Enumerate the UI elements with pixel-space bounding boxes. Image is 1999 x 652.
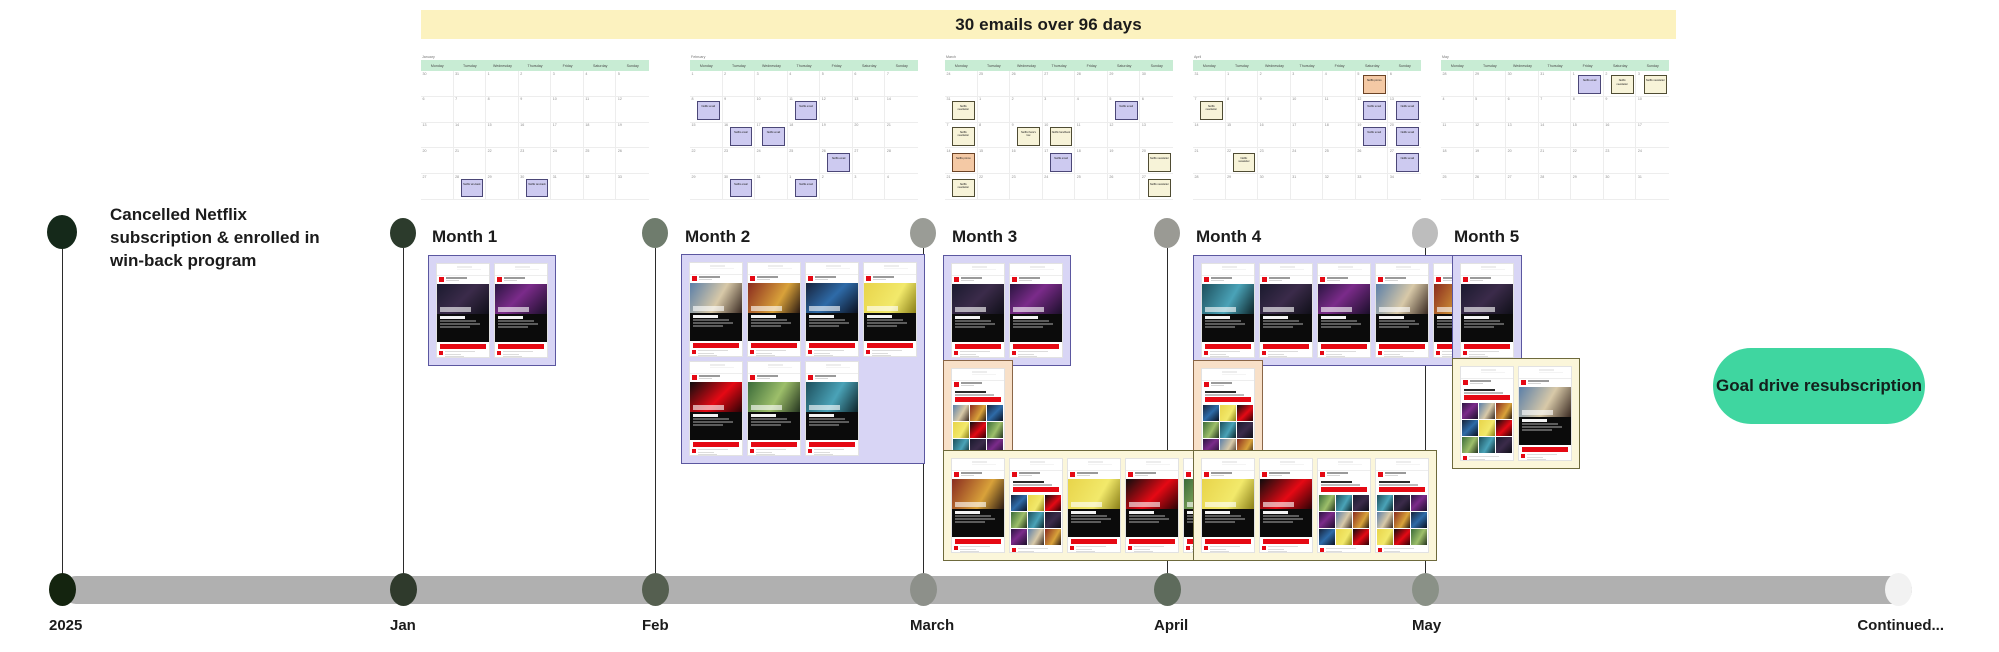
email-cta-button[interactable] [1464, 395, 1510, 400]
netflix-avatar-icon [1320, 277, 1325, 282]
calendar-event-chip[interactable]: Netflix email [1396, 153, 1419, 172]
calendar-day-cell[interactable]: 5Netflix email [1108, 97, 1141, 123]
calendar-event-chip[interactable]: Netflix newsletter [952, 127, 975, 146]
calendar-day-cell[interactable]: 34 [1388, 174, 1421, 200]
calendar-day-cell[interactable]: 4 [1075, 97, 1108, 123]
calendar-day-cell[interactable]: 1 [978, 97, 1011, 123]
calendar-day-cell[interactable]: 28 [1539, 174, 1572, 200]
calendar-day-cell[interactable]: 1 [486, 71, 519, 97]
calendar-day-cell[interactable]: 29 [1571, 174, 1604, 200]
calendar-event-chip[interactable]: Netflix email [795, 179, 818, 198]
calendar-day-cell[interactable]: 15 [1571, 123, 1604, 149]
calendar-day-cell[interactable]: 27 [421, 174, 454, 200]
email-screenshot[interactable] [1009, 263, 1063, 358]
axis-tick-dot[interactable] [49, 573, 76, 606]
email-screenshot[interactable] [1460, 366, 1514, 461]
calendar-day-cell[interactable]: 23 [1010, 174, 1043, 200]
calendar-day-cell[interactable]: 29 [486, 174, 519, 200]
email-screenshot[interactable] [951, 263, 1005, 358]
calendar-day-cell[interactable]: 15 [1226, 123, 1259, 149]
calendar-day-cell[interactable]: 12 [820, 97, 853, 123]
email-screenshot[interactable] [689, 262, 743, 357]
calendar-day-cell[interactable]: 12 [1474, 123, 1507, 149]
milestone-dot[interactable] [390, 218, 416, 248]
calendar-day-cell[interactable]: 23 [519, 148, 552, 174]
email-footer [1068, 544, 1120, 553]
email-title-thumbnail [1237, 405, 1253, 421]
calendar-day-number: 19 [822, 123, 826, 128]
calendar-day-cell[interactable]: 14 [1539, 123, 1572, 149]
email-footer [495, 349, 547, 358]
calendar-day-cell[interactable]: 22Netflix newsletter [1226, 148, 1259, 174]
calendar-day-cell[interactable]: 10 [1291, 97, 1324, 123]
calendar-event-chip[interactable]: Netflix email [795, 101, 818, 120]
email-sender-row [748, 374, 800, 381]
calendar-event-chip[interactable]: Netflix email [1363, 101, 1386, 120]
calendar-day-number: 22 [1227, 149, 1231, 154]
calendar-day-cell[interactable]: 13 [1140, 123, 1173, 149]
calendar-day-cell[interactable]: 30 [1506, 71, 1539, 97]
calendar-day-cell[interactable]: 28 [1441, 71, 1474, 97]
calendar-event-chip[interactable]: Netflix there's low [1017, 127, 1040, 146]
calendar-day-cell[interactable]: 6 [1140, 97, 1173, 123]
calendar-day-cell[interactable]: 33 [616, 174, 649, 200]
calendar-day-cell[interactable]: 2 [723, 71, 756, 97]
axis-tick-dot[interactable] [390, 573, 417, 606]
email-screenshot[interactable] [436, 263, 490, 358]
email-screenshot[interactable] [494, 263, 548, 358]
calendar-day-cell[interactable]: 2 [1010, 97, 1043, 123]
email-screenshot[interactable] [951, 368, 1005, 463]
calendar-day-cell[interactable]: 27 [1043, 71, 1076, 97]
calendar-day-cell[interactable]: 9 [1604, 97, 1637, 123]
calendar-day-cell[interactable]: 6 [853, 71, 886, 97]
calendar-day-cell[interactable]: 21 [454, 148, 487, 174]
email-hero-title-overlay [1205, 307, 1236, 312]
calendar-day-cell[interactable]: 2 [820, 174, 853, 200]
email-screenshot[interactable] [1201, 263, 1255, 358]
email-cta-button[interactable] [1321, 487, 1367, 492]
email-screenshot[interactable] [1201, 368, 1255, 463]
axis-tick-dot[interactable] [1885, 573, 1912, 606]
calendar-day-cell[interactable]: 16 [1010, 148, 1043, 174]
calendar-day-cell[interactable]: 5Netflix promo [1356, 71, 1389, 97]
calendar-day-number: 2 [1012, 97, 1014, 102]
calendar-day-cell[interactable]: 26 [1356, 148, 1389, 174]
email-screenshot[interactable] [805, 262, 859, 357]
calendar-day-cell[interactable]: 28 [1193, 174, 1226, 200]
calendar-day-cell[interactable]: 5 [1474, 97, 1507, 123]
calendar-day-cell[interactable]: 18 [1075, 148, 1108, 174]
email-hero-image [1461, 284, 1513, 315]
calendar-day-cell[interactable]: 27 [853, 148, 886, 174]
email-screenshot[interactable] [805, 361, 859, 456]
calendar-day-cell[interactable]: 3 [853, 174, 886, 200]
calendar-day-cell[interactable]: 25 [1441, 174, 1474, 200]
calendar-day-cell[interactable]: 6 [1388, 71, 1421, 97]
calendar-event-chip[interactable]: Netflix email [1115, 101, 1138, 120]
calendar-day-cell[interactable]: 19 [820, 123, 853, 149]
calendar-day-cell[interactable]: 7 [454, 97, 487, 123]
calendar-day-cell[interactable]: 28Netflix win-back [454, 174, 487, 200]
email-title-thumbnail [1353, 529, 1369, 545]
calendar-day-cell[interactable]: 14 [885, 97, 918, 123]
email-volume-banner: 30 emails over 96 days [421, 10, 1676, 39]
email-screenshot[interactable] [1009, 458, 1063, 553]
calendar-event-chip[interactable]: Netflix handbook [1050, 127, 1073, 146]
calendar-day-number: 12 [822, 97, 826, 102]
calendar-day-cell[interactable]: 3 [551, 71, 584, 97]
calendar-day-cell[interactable]: 21 [1539, 148, 1572, 174]
calendar-day-cell[interactable]: 16 [1604, 123, 1637, 149]
calendar-day-cell[interactable]: 24 [755, 148, 788, 174]
milestone-stem [62, 232, 63, 586]
calendar-event-chip[interactable]: Netflix email [1396, 127, 1419, 146]
calendar-day-cell[interactable]: 13 [421, 123, 454, 149]
email-sender-row [1202, 381, 1254, 388]
email-sender-lines [1019, 472, 1060, 477]
calendar-day-cell[interactable]: 3 [1043, 97, 1076, 123]
calendar-day-number: 3 [1292, 72, 1294, 77]
calendar-day-cell[interactable]: 21 [1193, 148, 1226, 174]
calendar-day-cell[interactable]: 23 [1258, 148, 1291, 174]
calendar-event-chip[interactable]: Netflix newsletter [1644, 75, 1667, 94]
calendar-day-cell[interactable]: 4 [1441, 97, 1474, 123]
calendar-day-cell[interactable]: 31 [755, 174, 788, 200]
calendar-day-cell[interactable]: 10Netflix handbook [1043, 123, 1076, 149]
calendar-day-cell[interactable]: 22 [690, 148, 723, 174]
calendar-day-cell[interactable]: 15 [978, 148, 1011, 174]
email-footer [690, 447, 742, 456]
calendar-day-cell[interactable]: 19 [1108, 148, 1141, 174]
calendar-day-cell[interactable]: 8Netflix email [690, 97, 723, 123]
netflix-avatar-icon [1012, 472, 1017, 477]
netflix-avatar-icon [750, 276, 755, 281]
axis-tick-dot[interactable] [642, 573, 669, 606]
calendar-day-cell[interactable]: 31 [1291, 174, 1324, 200]
calendar-day-cell[interactable]: 30 [1604, 174, 1637, 200]
email-title-thumbnail [1411, 495, 1427, 511]
calendar-day-cell[interactable]: 7Netflix newsletter [1193, 97, 1226, 123]
email-title-thumbnail [1028, 495, 1044, 511]
calendar-day-cell[interactable]: 23 [1604, 148, 1637, 174]
email-client-header [864, 263, 916, 275]
calendar-day-cell[interactable]: 3 [1291, 71, 1324, 97]
calendar-event-chip[interactable]: Netflix win-back [526, 179, 549, 198]
calendar-day-cell[interactable]: 17Netflix email [755, 123, 788, 149]
email-hero-image [1260, 479, 1312, 510]
email-screenshot[interactable] [1518, 366, 1572, 461]
calendar-day-cell[interactable]: 30 [1140, 71, 1173, 97]
calendar-day-cell[interactable]: 15 [690, 123, 723, 149]
calendar-day-cell[interactable]: 10 [551, 97, 584, 123]
email-title-thumbnail [1011, 495, 1027, 511]
calendar-day-cell[interactable]: 14 [1193, 123, 1226, 149]
calendar-day-cell[interactable]: 20 [421, 148, 454, 174]
calendar-day-cell[interactable]: 8 [1226, 97, 1259, 123]
calendar-day-number: 29 [1109, 72, 1113, 77]
milestone-dot[interactable] [1154, 218, 1180, 248]
calendar-event-chip[interactable]: Netflix newsletter [1200, 101, 1223, 120]
calendar-day-cell[interactable]: 16 [1258, 123, 1291, 149]
email-screenshot[interactable] [689, 361, 743, 456]
calendar-weekday: Saturday [584, 60, 617, 71]
calendar-day-cell[interactable]: 2 [519, 71, 552, 97]
calendar-day-cell[interactable]: 26Netflix email [820, 148, 853, 174]
calendar-day-cell[interactable]: 18 [1323, 123, 1356, 149]
calendar-day-number: 21 [1195, 149, 1199, 154]
calendar-day-cell[interactable]: 30 [421, 71, 454, 97]
calendar-event-chip[interactable]: Netflix email [1363, 127, 1386, 146]
calendar-day-cell[interactable]: 25 [788, 148, 821, 174]
calendar-event-chip[interactable]: Netflix email [697, 101, 720, 120]
calendar-day-cell[interactable]: 7 [885, 71, 918, 97]
calendar-day-cell[interactable]: 13 [1506, 123, 1539, 149]
axis-tick-dot[interactable] [910, 573, 937, 606]
calendar-event-chip[interactable]: Netflix email [730, 127, 753, 146]
calendar-day-cell[interactable]: 30Netflix email [723, 174, 756, 200]
calendar-day-cell[interactable]: 32 [1323, 174, 1356, 200]
calendar-day-cell[interactable]: 12Netflix email [1356, 97, 1389, 123]
email-cta-button[interactable] [955, 397, 1001, 402]
calendar-event-chip[interactable]: Netflix email [827, 153, 850, 172]
calendar-day-cell[interactable]: 27Netflix newsletter [1140, 174, 1173, 200]
calendar-day-cell[interactable]: 11 [1075, 123, 1108, 149]
calendar-weekday: Monday [421, 60, 454, 71]
calendar-day-cell[interactable]: 18 [584, 123, 617, 149]
email-screenshot[interactable] [1317, 458, 1371, 553]
calendar-day-cell[interactable]: 13 [853, 97, 886, 123]
email-screenshot[interactable] [747, 361, 801, 456]
calendar-day-cell[interactable]: 11 [584, 97, 617, 123]
calendar-day-cell[interactable]: 6 [1506, 97, 1539, 123]
calendar-event-chip[interactable]: Netflix email [1050, 153, 1073, 172]
calendar-day-cell[interactable]: 20 [1506, 148, 1539, 174]
calendar-day-cell[interactable]: 25 [584, 148, 617, 174]
calendar-day-cell[interactable]: 10 [1636, 97, 1669, 123]
calendar-day-cell[interactable]: 29 [690, 174, 723, 200]
email-hero-image [495, 284, 547, 315]
calendar-day-cell[interactable]: 5 [820, 71, 853, 97]
calendar-day-cell[interactable]: 11 [1323, 97, 1356, 123]
email-sender-row [690, 374, 742, 381]
calendar-day-cell[interactable]: 18 [1441, 148, 1474, 174]
calendar-day-cell[interactable]: 19 [1474, 148, 1507, 174]
calendar-day-cell[interactable]: 24 [1291, 148, 1324, 174]
calendar-event-chip[interactable]: Netflix newsletter [1148, 153, 1171, 172]
email-screenshot[interactable] [747, 262, 801, 357]
calendar-day-cell[interactable]: 15 [486, 123, 519, 149]
calendar-day-cell[interactable]: 7 [1539, 97, 1572, 123]
calendar-day-cell[interactable]: 27Netflix email [1388, 148, 1421, 174]
email-screenshot[interactable] [1067, 458, 1121, 553]
calendar-day-cell[interactable]: 26 [1108, 174, 1141, 200]
email-screenshot[interactable] [1460, 263, 1514, 358]
email-screenshot[interactable] [1375, 458, 1429, 553]
calendar-event-chip[interactable]: Netflix win-back [461, 179, 484, 198]
email-screenshot[interactable] [1201, 458, 1255, 553]
calendar-day-cell[interactable]: 19 [616, 123, 649, 149]
calendar-day-cell[interactable]: 25 [978, 71, 1011, 97]
milestone-dot[interactable] [1412, 218, 1438, 248]
calendar-day-cell[interactable]: 28 [885, 148, 918, 174]
calendar-event-chip[interactable]: Netflix email [1578, 75, 1601, 94]
calendar-day-cell[interactable]: 25 [1075, 174, 1108, 200]
axis-tick-dot[interactable] [1412, 573, 1439, 606]
calendar-day-number: 21 [1540, 149, 1544, 154]
calendar-day-cell[interactable]: 16Netflix email [723, 123, 756, 149]
calendar-day-cell[interactable]: 20Netflix email [1388, 123, 1421, 149]
calendar-day-cell[interactable]: 1 [690, 71, 723, 97]
calendar-day-cell[interactable]: 12 [616, 97, 649, 123]
calendar-day-cell[interactable]: 1 [1226, 71, 1259, 97]
milestone-dot[interactable] [47, 215, 77, 249]
calendar-day-cell[interactable]: 20 [853, 123, 886, 149]
calendar-day-cell[interactable]: 25 [1323, 148, 1356, 174]
calendar-day-cell[interactable]: 24 [945, 71, 978, 97]
calendar-day-cell[interactable]: 9Netflix there's low [1010, 123, 1043, 149]
milestone-dot[interactable] [910, 218, 936, 248]
calendar-day-cell[interactable]: 29 [1108, 71, 1141, 97]
calendar-day-cell[interactable]: 3Netflix newsletter [1636, 71, 1669, 97]
calendar-day-cell[interactable]: 31 [551, 174, 584, 200]
email-body-dark [952, 314, 1004, 342]
calendar-day-cell[interactable]: 26 [1474, 174, 1507, 200]
calendar-day-cell[interactable]: 8 [978, 123, 1011, 149]
calendar-day-cell[interactable]: 23 [723, 148, 756, 174]
email-hero-image [1318, 284, 1370, 315]
email-screenshot[interactable] [863, 262, 917, 357]
calendar-day-cell[interactable]: 17Netflix email [1043, 148, 1076, 174]
email-cta-button[interactable] [1013, 487, 1059, 492]
calendar-day-cell[interactable]: 3 [755, 71, 788, 97]
calendar-day-cell[interactable]: 22 [486, 148, 519, 174]
milestone-dot[interactable] [642, 218, 668, 248]
email-cta-button[interactable] [1379, 487, 1425, 492]
email-sender-lines [757, 276, 798, 281]
calendar-day-cell[interactable]: 5 [616, 71, 649, 97]
calendar-event-chip[interactable]: Netflix newsletter [1148, 179, 1171, 198]
email-screenshot[interactable] [1259, 263, 1313, 358]
calendar-day-cell[interactable]: 26 [1010, 71, 1043, 97]
email-sender-lines [1211, 277, 1252, 282]
calendar-day-cell[interactable]: 4 [885, 174, 918, 200]
email-screenshot[interactable] [1317, 263, 1371, 358]
calendar-event-chip[interactable]: Netflix promo [1363, 75, 1386, 94]
calendar-day-cell[interactable]: 4 [1323, 71, 1356, 97]
calendar-day-number: 18 [789, 123, 793, 128]
calendar-day-cell[interactable]: 27 [1506, 174, 1539, 200]
calendar-day-cell[interactable]: 31 [454, 71, 487, 97]
calendar-day-cell[interactable]: 8 [486, 97, 519, 123]
calendar-day-cell[interactable]: 21 [885, 123, 918, 149]
calendar-day-cell[interactable]: 6 [421, 97, 454, 123]
calendar-day-cell[interactable]: 31 [1539, 71, 1572, 97]
calendar-day-number: 3 [757, 72, 759, 77]
email-screenshot[interactable] [1259, 458, 1313, 553]
calendar-day-cell[interactable]: 17 [1291, 123, 1324, 149]
calendar-day-cell[interactable]: 29 [1226, 174, 1259, 200]
calendar-day-cell[interactable]: 2Netflix newsletter [1604, 71, 1637, 97]
calendar-day-cell[interactable]: 16 [519, 123, 552, 149]
calendar-day-cell[interactable]: 18 [788, 123, 821, 149]
calendar-day-cell[interactable]: 17 [1636, 123, 1669, 149]
calendar-day-cell[interactable]: 9 [1258, 97, 1291, 123]
calendar-day-cell[interactable]: 22 [1571, 148, 1604, 174]
calendar-day-number: 15 [979, 149, 983, 154]
calendar-day-number: 3 [553, 72, 555, 77]
calendar-day-cell[interactable]: 28 [1075, 71, 1108, 97]
calendar-day-cell[interactable]: 22 [978, 174, 1011, 200]
calendar-day-cell[interactable]: 4 [788, 71, 821, 97]
calendar-day-cell[interactable]: 9 [723, 97, 756, 123]
netflix-avatar-icon [692, 276, 697, 281]
calendar-event-chip[interactable]: Netflix email [762, 127, 785, 146]
calendar-day-cell[interactable]: 10 [755, 97, 788, 123]
calendar-day-cell[interactable]: 33 [1356, 174, 1389, 200]
calendar-event-chip[interactable]: Netflix newsletter [952, 179, 975, 198]
calendar-day-cell[interactable]: 2 [1258, 71, 1291, 97]
calendar-event-chip[interactable]: Netflix newsletter [1611, 75, 1634, 94]
calendar-day-number: 14 [1195, 123, 1199, 128]
axis-tick-dot[interactable] [1154, 573, 1181, 606]
calendar-day-cell[interactable]: 11Netflix email [788, 97, 821, 123]
calendar-day-cell[interactable]: 30 [1258, 174, 1291, 200]
email-screenshot[interactable] [951, 458, 1005, 553]
calendar-day-cell[interactable]: 24 [551, 148, 584, 174]
netflix-avatar-icon [1204, 277, 1209, 282]
calendar-day-cell[interactable]: 20Netflix newsletter [1140, 148, 1173, 174]
calendar-day-cell[interactable]: 11 [1441, 123, 1474, 149]
calendar-day-cell[interactable]: 26 [616, 148, 649, 174]
calendar-day-cell[interactable]: 17 [551, 123, 584, 149]
calendar-day-cell[interactable]: 7Netflix newsletter [945, 123, 978, 149]
calendar-event-chip[interactable]: Netflix newsletter [952, 101, 975, 120]
calendar-day-cell[interactable]: 32 [584, 174, 617, 200]
calendar-weekday: Wednesday [486, 60, 519, 71]
email-screenshot[interactable] [1375, 263, 1429, 358]
calendar-day-cell[interactable]: 9 [519, 97, 552, 123]
calendar-day-cell[interactable]: 14 [454, 123, 487, 149]
calendar-day-cell[interactable]: 30Netflix win-back [519, 174, 552, 200]
calendar-event-chip[interactable]: Netflix email [1396, 101, 1419, 120]
calendar-day-cell[interactable]: 24 [1636, 148, 1669, 174]
calendar-event-chip[interactable]: Netflix newsletter [1233, 153, 1256, 172]
calendar-day-cell[interactable]: 31 [1193, 71, 1226, 97]
calendar-day-cell[interactable]: 19Netflix email [1356, 123, 1389, 149]
calendar-day-number: 9 [1605, 97, 1607, 102]
email-cta-button[interactable] [1205, 397, 1251, 402]
calendar-day-cell[interactable]: 12 [1108, 123, 1141, 149]
email-screenshot[interactable] [1125, 458, 1179, 553]
calendar-day-cell[interactable]: 29 [1474, 71, 1507, 97]
calendar-event-chip[interactable]: Netflix promo [952, 153, 975, 172]
calendar-day-cell[interactable]: 1Netflix email [788, 174, 821, 200]
calendar-day-cell[interactable]: 14Netflix promo [945, 148, 978, 174]
calendar-day-cell[interactable]: 31Netflix newsletter [945, 97, 978, 123]
calendar-day-cell[interactable]: 1Netflix email [1571, 71, 1604, 97]
email-footer [1461, 349, 1513, 358]
calendar-day-cell[interactable]: 31 [1636, 174, 1669, 200]
calendar-day-cell[interactable]: 8 [1571, 97, 1604, 123]
calendar-day-cell[interactable]: 21Netflix newsletter [945, 174, 978, 200]
email-body-dark [1376, 314, 1428, 342]
email-title-thumbnail [1479, 420, 1495, 436]
calendar-day-cell[interactable]: 24 [1043, 174, 1076, 200]
calendar-event-chip[interactable]: Netflix email [730, 179, 753, 198]
calendar-day-cell[interactable]: 4 [584, 71, 617, 97]
calendar-day-cell[interactable]: 13Netflix email [1388, 97, 1421, 123]
